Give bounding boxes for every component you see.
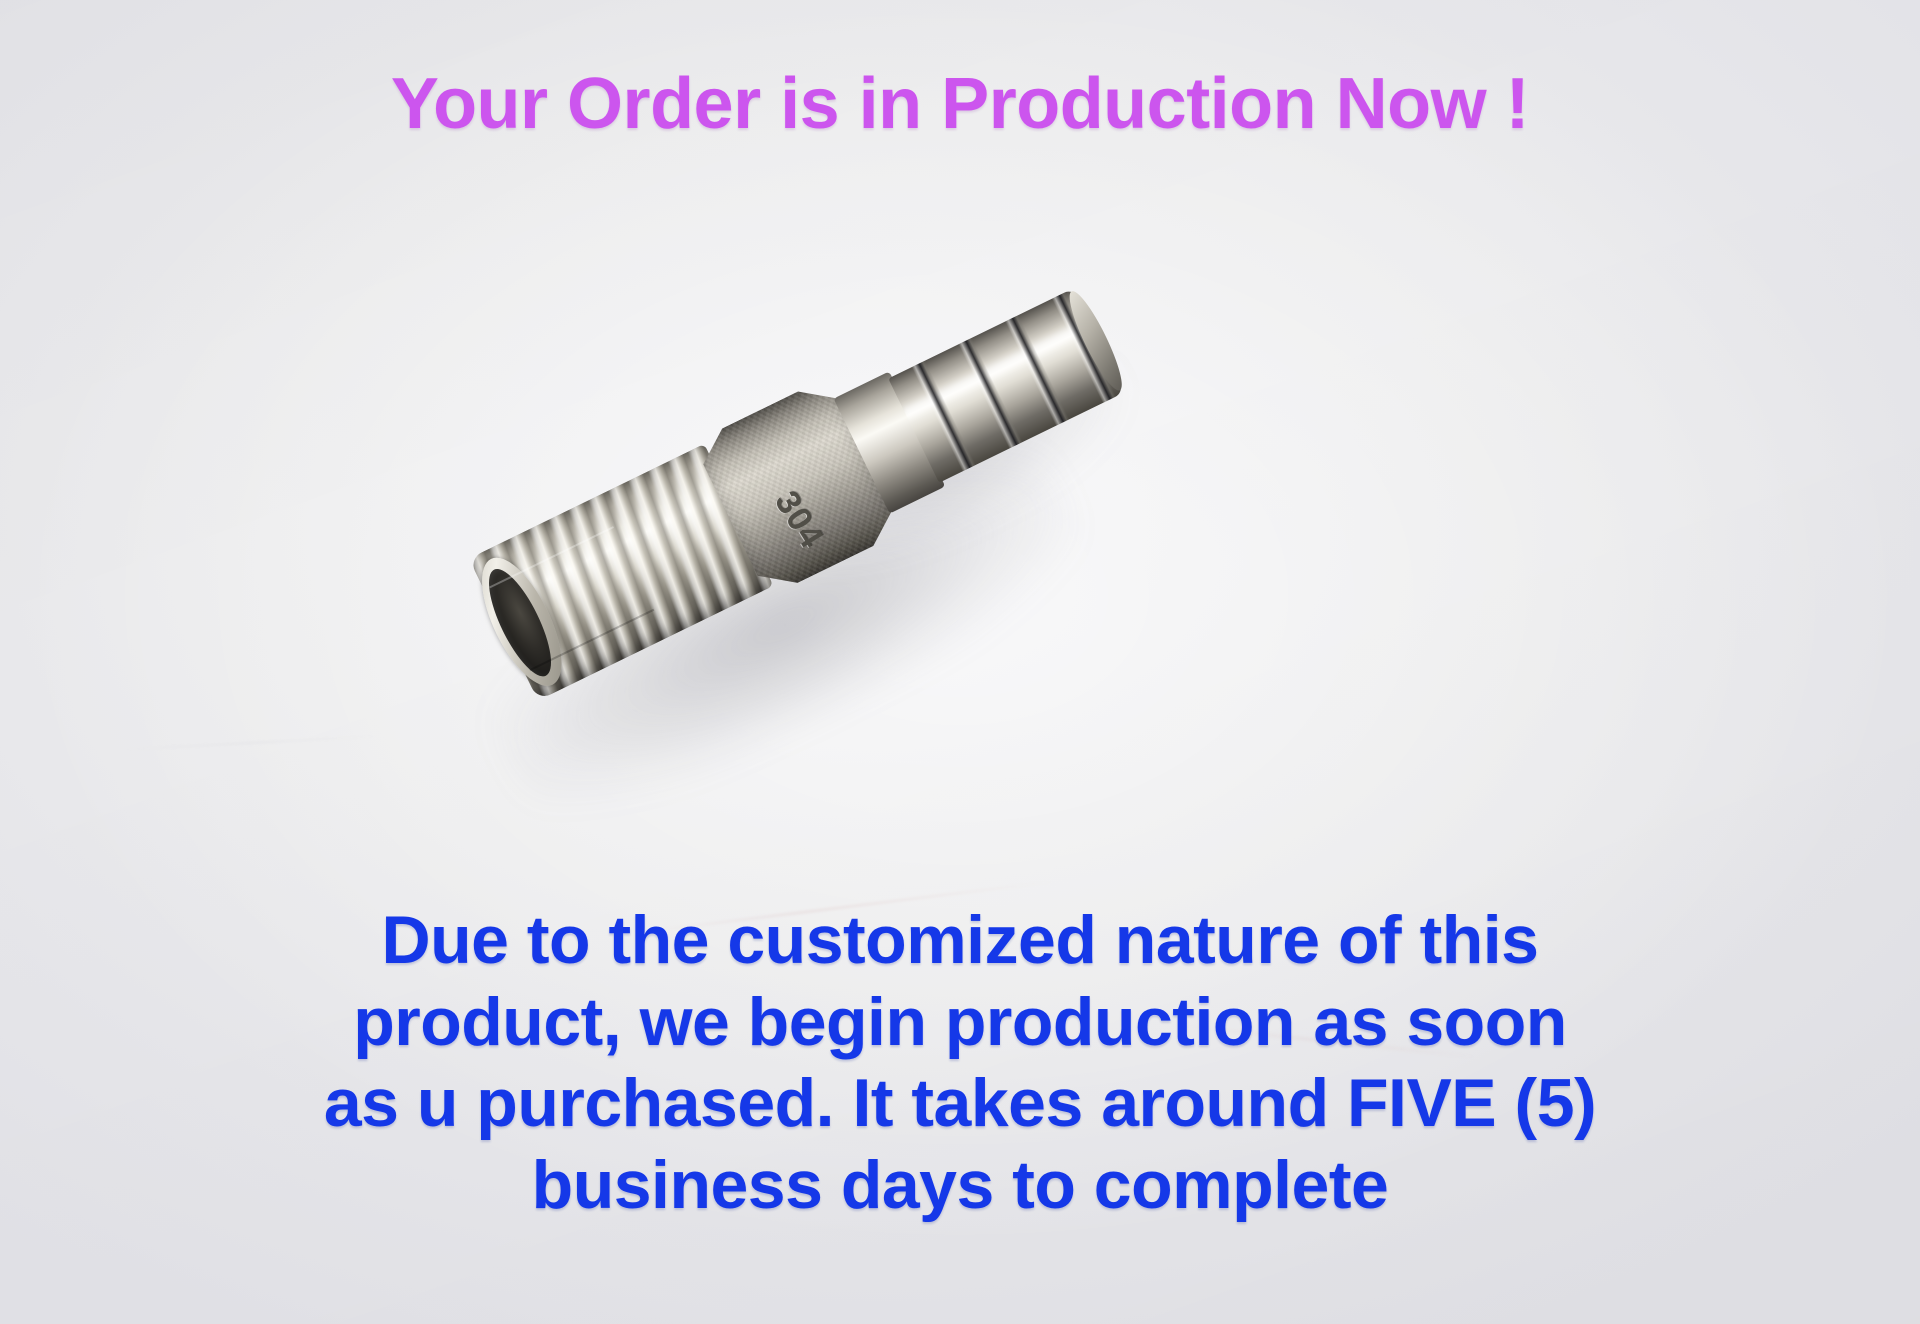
headline-order-in-production: Your Order is in Production Now ! [0,68,1920,140]
body-message-line: business days to complete [110,1145,1810,1227]
promo-image-canvas: Your Order is in Production Now ! 304 [0,0,1920,1324]
product-photo: 304 [440,280,1160,740]
body-message-line: as u purchased. It takes around FIVE (5) [110,1063,1810,1145]
body-message: Due to the customized nature of this pro… [110,900,1810,1226]
body-message-line: product, we begin production as soon [110,982,1810,1064]
body-message-line: Due to the customized nature of this [110,900,1810,982]
backdrop-streak [120,735,380,751]
